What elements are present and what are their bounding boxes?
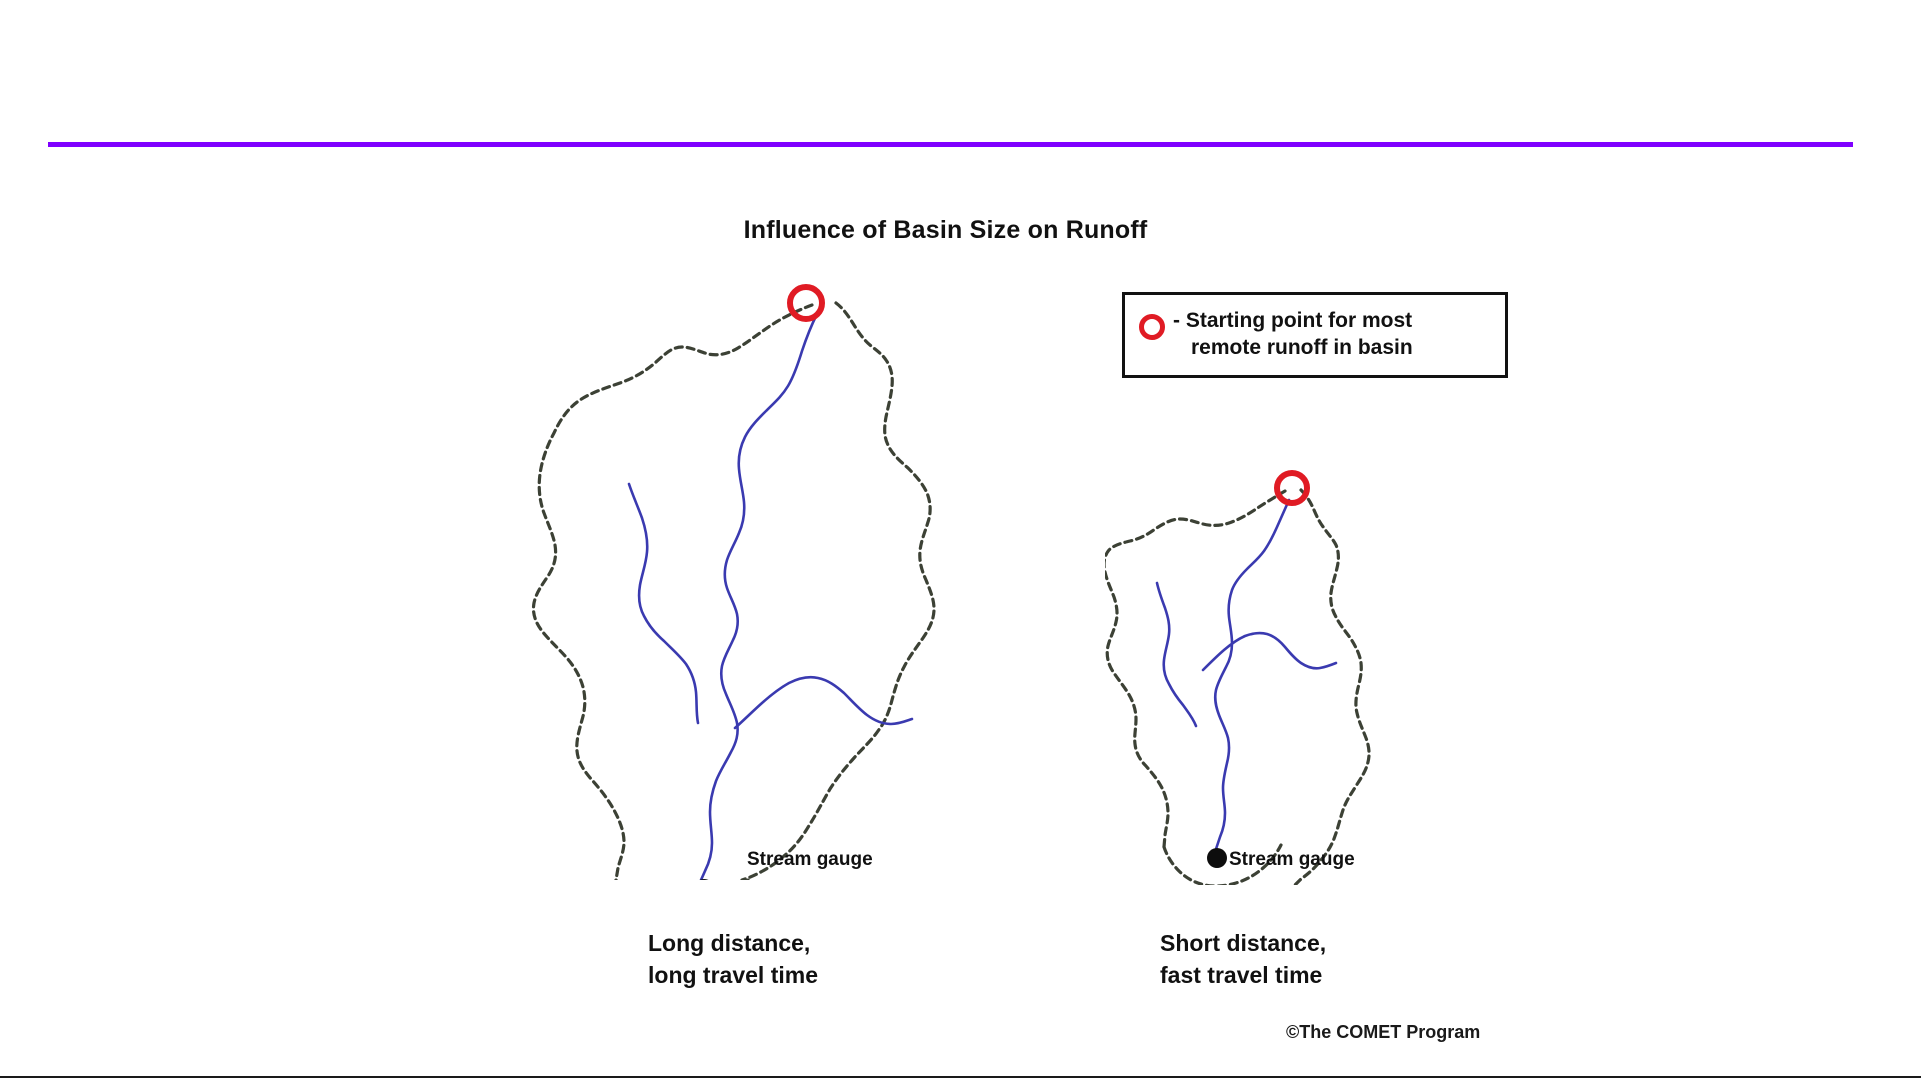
legend-text: - Starting point for mostremote runoff i… xyxy=(1173,308,1413,362)
small-basin-east-tributary xyxy=(1203,633,1336,670)
large-basin-gauge-label: Stream gauge xyxy=(747,849,873,871)
footer-divider-rule xyxy=(0,1076,1921,1078)
legend-line-1: - Starting point for most xyxy=(1173,309,1412,332)
large-basin-caption-line-1: Long distance, xyxy=(648,930,810,956)
large-basin-start-point-icon xyxy=(790,287,822,319)
figure-title: Influence of Basin Size on Runoff xyxy=(0,216,1921,245)
small-basin-west-tributary xyxy=(1157,583,1196,726)
large-basin-west-tributary xyxy=(629,484,698,723)
small-basin-gauge-label: Stream gauge xyxy=(1229,849,1355,871)
large-basin-gauge-dot-icon xyxy=(693,879,715,880)
large-basin-outline-east xyxy=(742,303,934,880)
red-circle-marker-icon xyxy=(1139,314,1165,340)
small-basin-caption-line-1: Short distance, xyxy=(1160,930,1326,956)
large-basin-main-stem xyxy=(701,314,817,880)
small-basin-start-point-icon xyxy=(1277,473,1307,503)
large-basin-drawing xyxy=(520,250,940,880)
small-basin-main-stem xyxy=(1215,500,1289,849)
large-basin-outline xyxy=(533,305,812,880)
legend-box: - Starting point for mostremote runoff i… xyxy=(1122,292,1508,378)
large-basin-caption-line-2: long travel time xyxy=(648,962,818,988)
copyright-credit: ©The COMET Program xyxy=(1286,1022,1480,1043)
small-basin-caption-line-2: fast travel time xyxy=(1160,962,1322,988)
small-basin-caption: Short distance,fast travel time xyxy=(1160,928,1326,991)
small-basin-drawing xyxy=(1105,455,1445,885)
legend-line-2: remote runoff in basin xyxy=(1173,336,1413,359)
figure-title-text: Influence of Basin Size on Runoff xyxy=(744,216,1148,245)
small-basin-gauge-dot-icon xyxy=(1207,848,1227,868)
small-basin-outline xyxy=(1105,491,1285,847)
figure-canvas: Influence of Basin Size on Runoff - Star… xyxy=(0,0,1921,1081)
small-basin-outline-east xyxy=(1295,490,1369,885)
large-basin-caption: Long distance,long travel time xyxy=(648,928,818,991)
